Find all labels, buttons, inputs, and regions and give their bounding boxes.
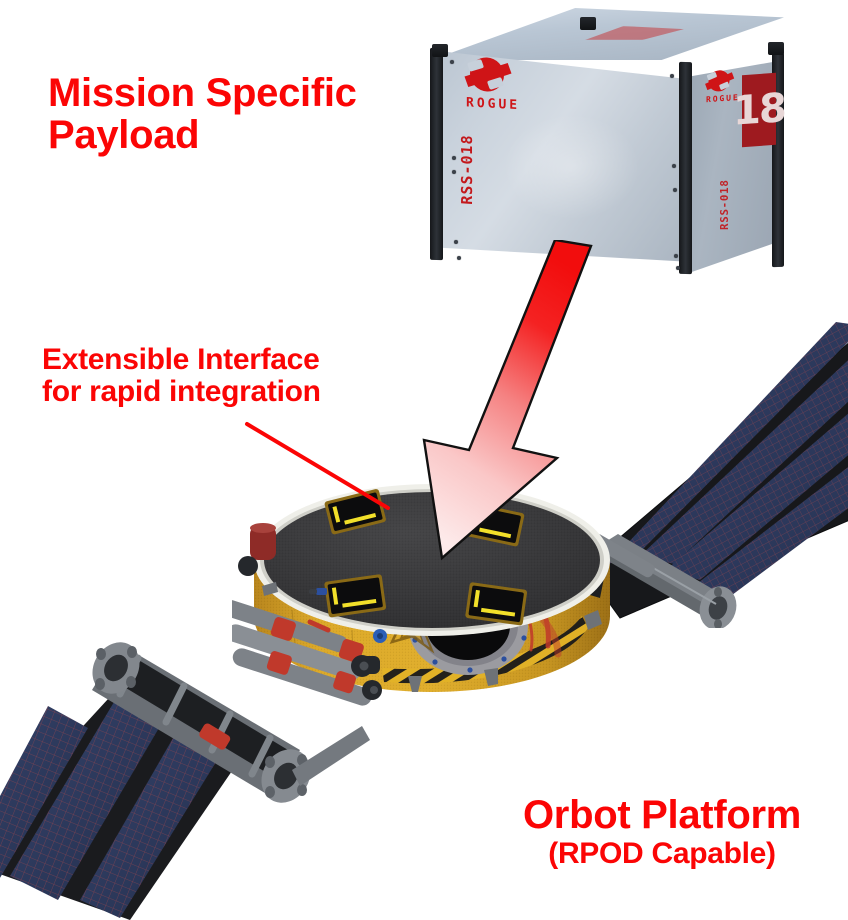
- orbot-platform-title: Orbot Platform: [523, 793, 801, 837]
- payload-number-text: 18: [733, 88, 785, 132]
- rogue-wordmark: ROGUE: [466, 95, 528, 113]
- figure-canvas: ROGUE ROGUE 18 RSS-018 RSS-018: [0, 0, 848, 900]
- rogue-s-icon: [466, 54, 508, 98]
- bolt: [673, 188, 677, 192]
- integration-arrow: [395, 240, 635, 570]
- bolt: [672, 164, 676, 168]
- payload-serial-front: RSS-018: [458, 134, 476, 205]
- annotation-mission-payload: Mission Specific Payload: [48, 72, 448, 157]
- payload-top-face: [424, 8, 784, 60]
- rogue-s-icon-side: [706, 68, 732, 96]
- payload-number-badge: 18: [742, 73, 776, 147]
- bolt: [674, 254, 678, 258]
- edge-tab-left: [432, 44, 448, 57]
- rogue-logo-front: ROGUE: [466, 54, 528, 113]
- bolt: [676, 266, 680, 270]
- payload-module: ROGUE ROGUE 18 RSS-018 RSS-018: [424, 8, 784, 270]
- annotation-extensible-interface: Extensible Interface for rapid integrati…: [42, 344, 422, 408]
- bolt: [450, 60, 454, 64]
- orbot-platform-subtitle: (RPOD Capable): [487, 837, 837, 870]
- payload-serial-side: RSS-018: [718, 179, 731, 230]
- edge-tab-top: [580, 17, 596, 30]
- annotation-orbot-platform: Orbot Platform (RPOD Capable): [487, 752, 837, 912]
- corner-rail-front-right: [679, 62, 692, 274]
- edge-tab-right: [768, 42, 784, 55]
- bolt: [670, 74, 674, 78]
- bolt: [452, 156, 456, 160]
- bolt: [452, 170, 456, 174]
